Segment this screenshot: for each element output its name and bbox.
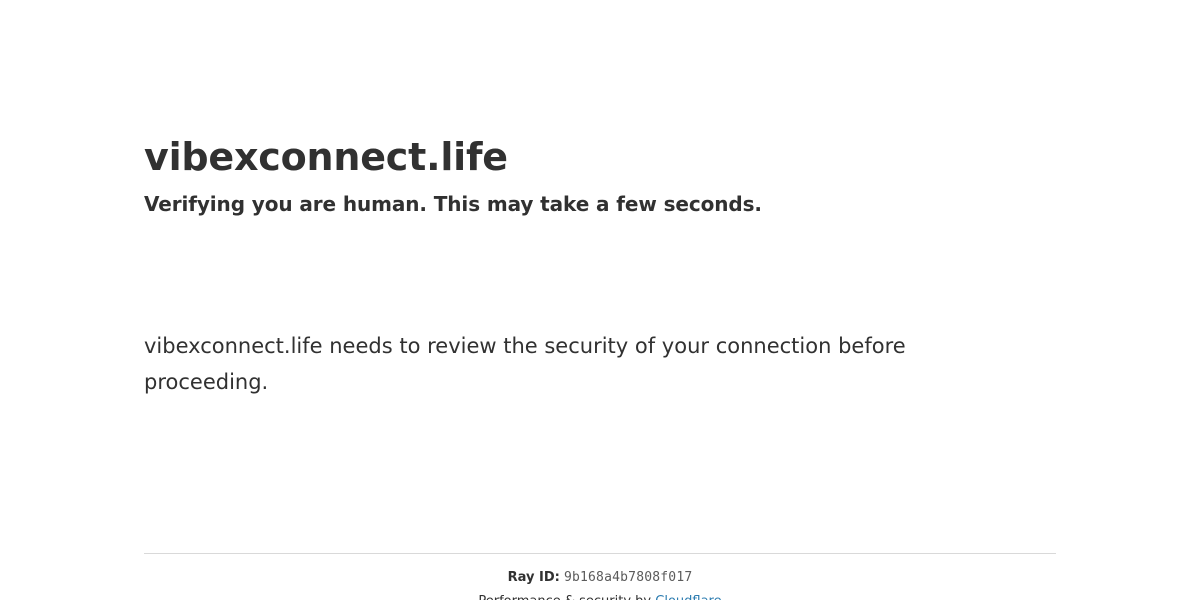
ray-id-value: 9b168a4b7808f017 [564, 570, 692, 585]
verification-status-text: Verifying you are human. This may take a… [144, 180, 1056, 218]
challenge-widget[interactable] [144, 226, 444, 328]
ray-id-row: Ray ID: 9b168a4b7808f017 [144, 566, 1056, 590]
attribution-row: Performance & security by Cloudflare [144, 590, 1056, 600]
challenge-page: vibexconnect.life Verifying you are huma… [0, 0, 1200, 600]
footer: Ray ID: 9b168a4b7808f017 Performance & s… [144, 566, 1056, 600]
attribution-prefix: Performance & security by [478, 594, 655, 600]
challenge-description: vibexconnect.life needs to review the se… [144, 328, 944, 400]
cloudflare-link[interactable]: Cloudflare [655, 594, 721, 600]
ray-id-label: Ray ID: [508, 570, 560, 585]
page-title: vibexconnect.life [144, 0, 1056, 180]
challenge-content: vibexconnect.life Verifying you are huma… [144, 0, 1056, 400]
footer-divider [144, 553, 1056, 554]
